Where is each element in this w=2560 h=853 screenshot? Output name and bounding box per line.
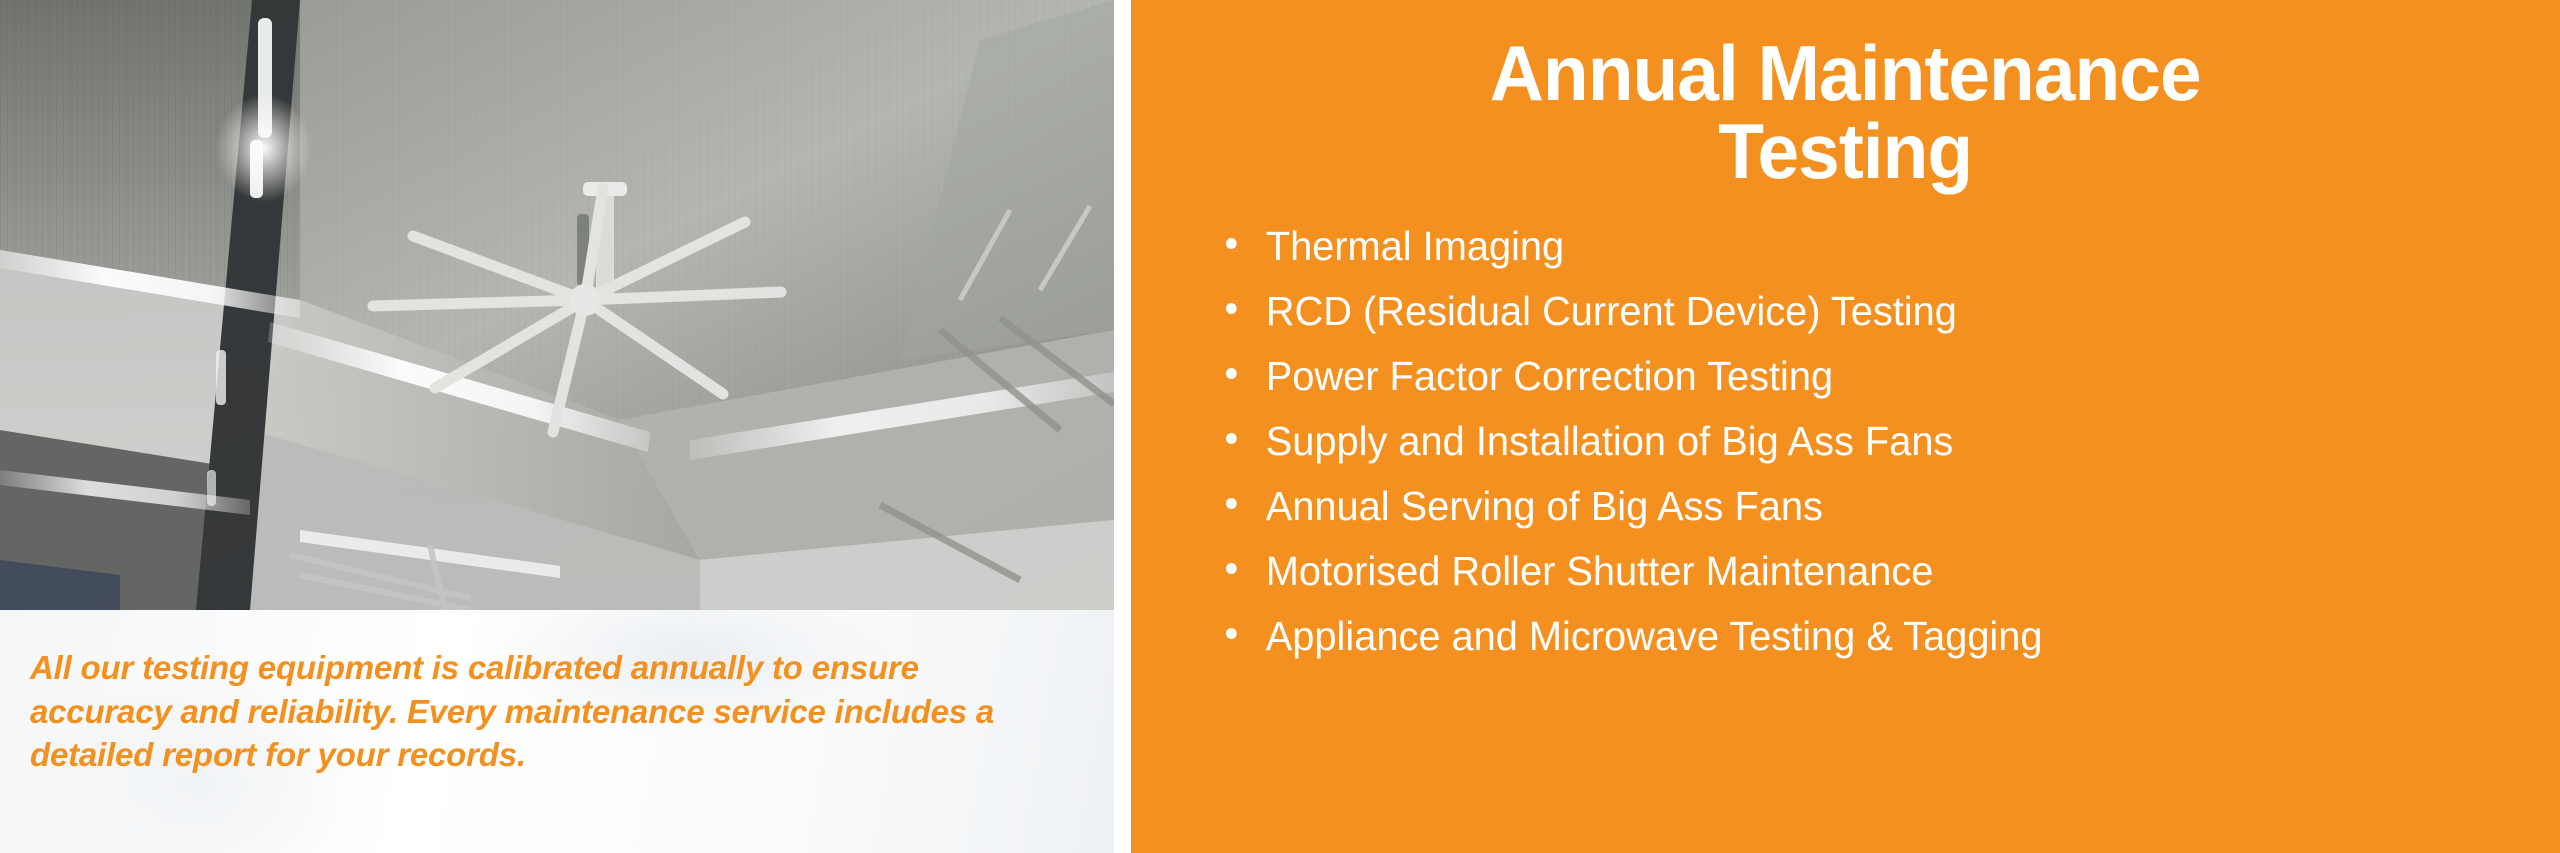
list-item: RCD (Residual Current Device) Testing <box>1226 291 2429 332</box>
list-item-label: RCD (Residual Current Device) Testing <box>1265 291 1956 332</box>
services-panel: Annual Maintenance Testing Thermal Imagi… <box>1131 0 2560 853</box>
list-item: Supply and Installation of Big Ass Fans <box>1226 421 2429 462</box>
bullet-dot-icon <box>1226 368 1237 379</box>
bullet-dot-icon <box>1226 563 1237 574</box>
page-title: Annual Maintenance Testing <box>1490 18 2201 190</box>
list-item: Thermal Imaging <box>1226 226 2429 267</box>
list-item-label: Annual Serving of Big Ass Fans <box>1265 486 1822 527</box>
list-item: Power Factor Correction Testing <box>1226 356 2429 397</box>
left-column: All our testing equipment is calibrated … <box>0 0 1114 853</box>
bullet-dot-icon <box>1226 238 1237 249</box>
list-item-label: Motorised Roller Shutter Maintenance <box>1265 551 1933 592</box>
ceiling-fan-photo <box>0 0 1114 610</box>
column-gutter <box>1114 0 1131 853</box>
bullet-dot-icon <box>1226 498 1237 509</box>
services-list: Thermal Imaging RCD (Residual Current De… <box>1226 226 2466 681</box>
list-item-label: Appliance and Microwave Testing & Taggin… <box>1265 616 2042 657</box>
page-title-line1: Annual Maintenance <box>1490 29 2201 117</box>
bullet-dot-icon <box>1226 303 1237 314</box>
list-item-label: Supply and Installation of Big Ass Fans <box>1265 421 1953 462</box>
caption-panel: All our testing equipment is calibrated … <box>0 610 1114 853</box>
list-item: Motorised Roller Shutter Maintenance <box>1226 551 2429 592</box>
services-banner: All our testing equipment is calibrated … <box>0 0 2560 853</box>
page-title-line2: Testing <box>1490 112 2201 190</box>
list-item: Annual Serving of Big Ass Fans <box>1226 486 2429 527</box>
list-item: Appliance and Microwave Testing & Taggin… <box>1226 616 2429 657</box>
list-item-label: Power Factor Correction Testing <box>1265 356 1832 397</box>
bullet-dot-icon <box>1226 433 1237 444</box>
caption-text: All our testing equipment is calibrated … <box>30 646 1030 777</box>
bullet-dot-icon <box>1226 628 1237 639</box>
list-item-label: Thermal Imaging <box>1265 226 1563 267</box>
